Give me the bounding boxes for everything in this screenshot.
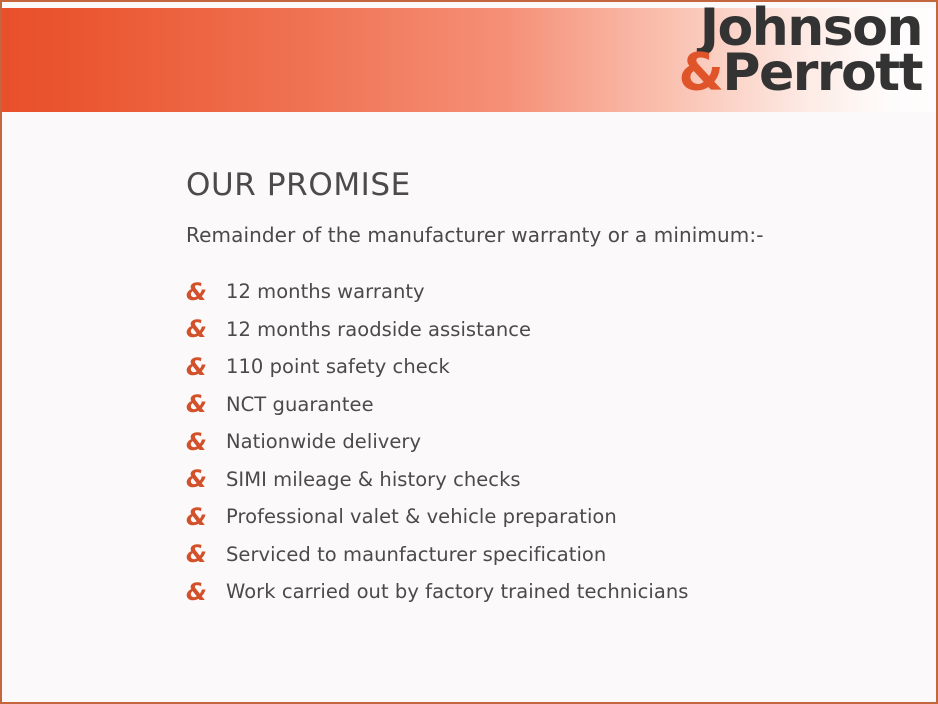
promise-slide: Johnson &Perrott OUR PROMISE Remainder o… <box>0 0 938 704</box>
list-item: & 12 months raodside assistance <box>186 311 886 349</box>
promise-list: & 12 months warranty & 12 months raodsid… <box>186 247 886 611</box>
list-item-label: NCT guarantee <box>226 393 374 416</box>
list-item: & Nationwide delivery <box>186 423 886 461</box>
list-item: & Serviced to maunfacturer specification <box>186 536 886 574</box>
list-item-label: 12 months raodside assistance <box>226 318 531 341</box>
ampersand-bullet-icon: & <box>186 542 226 566</box>
ampersand-bullet-icon: & <box>186 317 226 341</box>
list-item: & SIMI mileage & history checks <box>186 461 886 499</box>
list-item-label: 12 months warranty <box>226 280 425 303</box>
list-item: & 110 point safety check <box>186 348 886 386</box>
list-item-label: Work carried out by factory trained tech… <box>226 580 688 603</box>
brand-logo: Johnson &Perrott <box>679 6 922 95</box>
list-item-label: 110 point safety check <box>226 355 450 378</box>
logo-perrott-text: Perrott <box>722 43 922 103</box>
ampersand-bullet-icon: & <box>186 280 226 304</box>
ampersand-bullet-icon: & <box>186 467 226 491</box>
list-item: & 12 months warranty <box>186 273 886 311</box>
page-title: OUR PROMISE <box>186 170 886 201</box>
list-item-label: Serviced to maunfacturer specification <box>226 543 606 566</box>
ampersand-bullet-icon: & <box>186 580 226 604</box>
content-area: OUR PROMISE Remainder of the manufacture… <box>186 170 886 611</box>
logo-line-perrott: &Perrott <box>679 51 922 96</box>
ampersand-bullet-icon: & <box>186 505 226 529</box>
list-item: & Work carried out by factory trained te… <box>186 573 886 611</box>
list-item-label: Nationwide delivery <box>226 430 421 453</box>
logo-ampersand-icon: & <box>679 43 723 103</box>
ampersand-bullet-icon: & <box>186 392 226 416</box>
list-item-label: Professional valet & vehicle preparation <box>226 505 617 528</box>
page-subtitle: Remainder of the manufacturer warranty o… <box>186 201 886 247</box>
ampersand-bullet-icon: & <box>186 430 226 454</box>
ampersand-bullet-icon: & <box>186 355 226 379</box>
list-item-label: SIMI mileage & history checks <box>226 468 521 491</box>
list-item: & Professional valet & vehicle preparati… <box>186 498 886 536</box>
list-item: & NCT guarantee <box>186 386 886 424</box>
